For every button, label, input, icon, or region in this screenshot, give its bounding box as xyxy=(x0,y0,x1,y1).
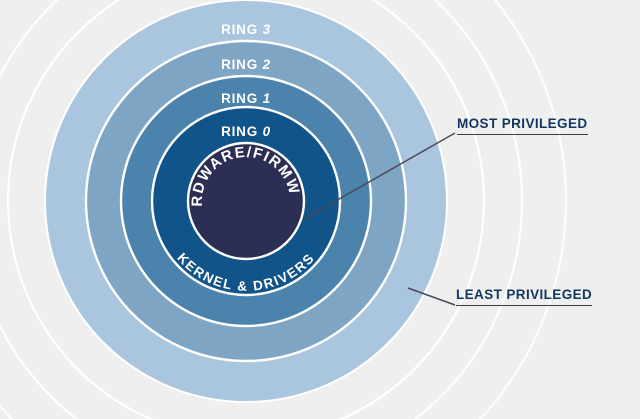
ring-2-label: RING 2 xyxy=(221,57,271,72)
ring-1-label: RING 1 xyxy=(221,91,271,106)
ring-2-label-word: RING xyxy=(221,57,258,72)
ring-0-label: RING 0 xyxy=(221,124,271,139)
protection-rings-diagram: RING 3 RING 2 RING 1 RING 0 HARDWARE/FIR… xyxy=(0,0,640,419)
ring-0-label-number: 0 xyxy=(263,124,271,139)
ring-3-label-word: RING xyxy=(221,22,258,37)
ring-3-label: RING 3 xyxy=(221,22,271,37)
ring-1-label-number: 1 xyxy=(263,91,271,106)
most-privileged-label: MOST PRIVILEGED xyxy=(457,116,588,135)
ring-0-label-word: RING xyxy=(221,124,258,139)
ring-2-label-number: 2 xyxy=(262,57,271,72)
least-privileged-label: LEAST PRIVILEGED xyxy=(456,287,592,306)
ring-3-label-number: 3 xyxy=(263,22,271,37)
ring-1-label-word: RING xyxy=(221,91,258,106)
rings-svg: RING 3 RING 2 RING 1 RING 0 HARDWARE/FIR… xyxy=(0,0,640,419)
